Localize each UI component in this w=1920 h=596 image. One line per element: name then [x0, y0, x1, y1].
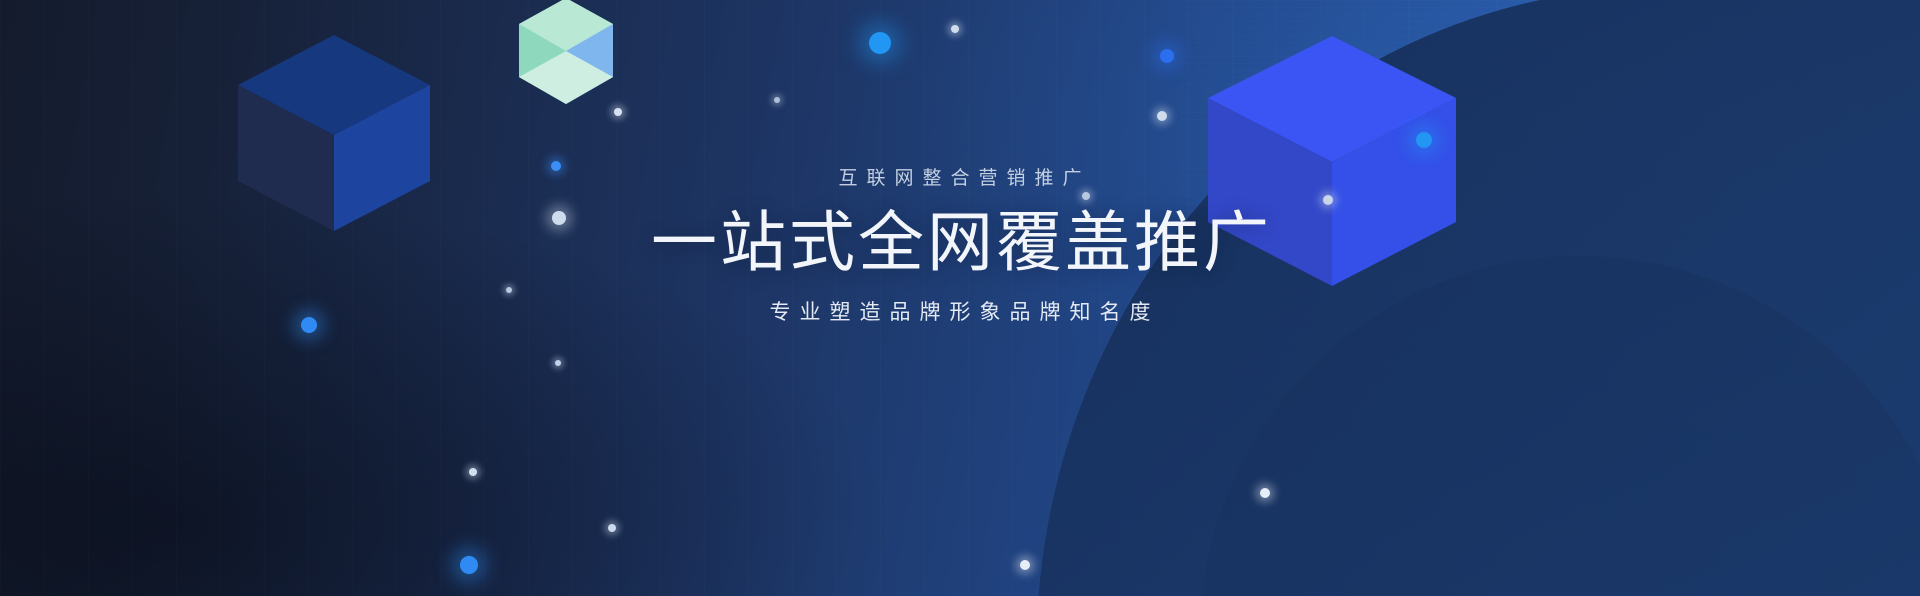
cube-mint-top-center-icon: [519, 0, 613, 104]
particle-dot: [1260, 488, 1270, 498]
particle-dot: [469, 468, 477, 476]
particle-dot: [555, 360, 561, 366]
banner-eyebrow: 互联网整合营销推广: [0, 168, 1920, 191]
particle-dot: [951, 25, 959, 33]
particle-dot: [1160, 49, 1174, 63]
hero-banner: 互联网整合营销推广 一站式全网覆盖推广 专业塑造品牌形象品牌知名度: [0, 0, 1920, 596]
banner-headline: 一站式全网覆盖推广: [0, 205, 1920, 280]
banner-subline: 专业塑造品牌形象品牌知名度: [0, 300, 1920, 325]
particle-dot: [1020, 560, 1030, 570]
particle-dot: [460, 556, 478, 574]
banner-copy-block: 互联网整合营销推广 一站式全网覆盖推广 专业塑造品牌形象品牌知名度: [0, 168, 1920, 325]
particle-dot: [608, 524, 616, 532]
particle-dot: [1416, 132, 1432, 148]
particle-dot: [614, 108, 622, 116]
particle-dot: [869, 32, 891, 54]
particle-dot: [774, 97, 780, 103]
particle-dot: [1157, 111, 1167, 121]
